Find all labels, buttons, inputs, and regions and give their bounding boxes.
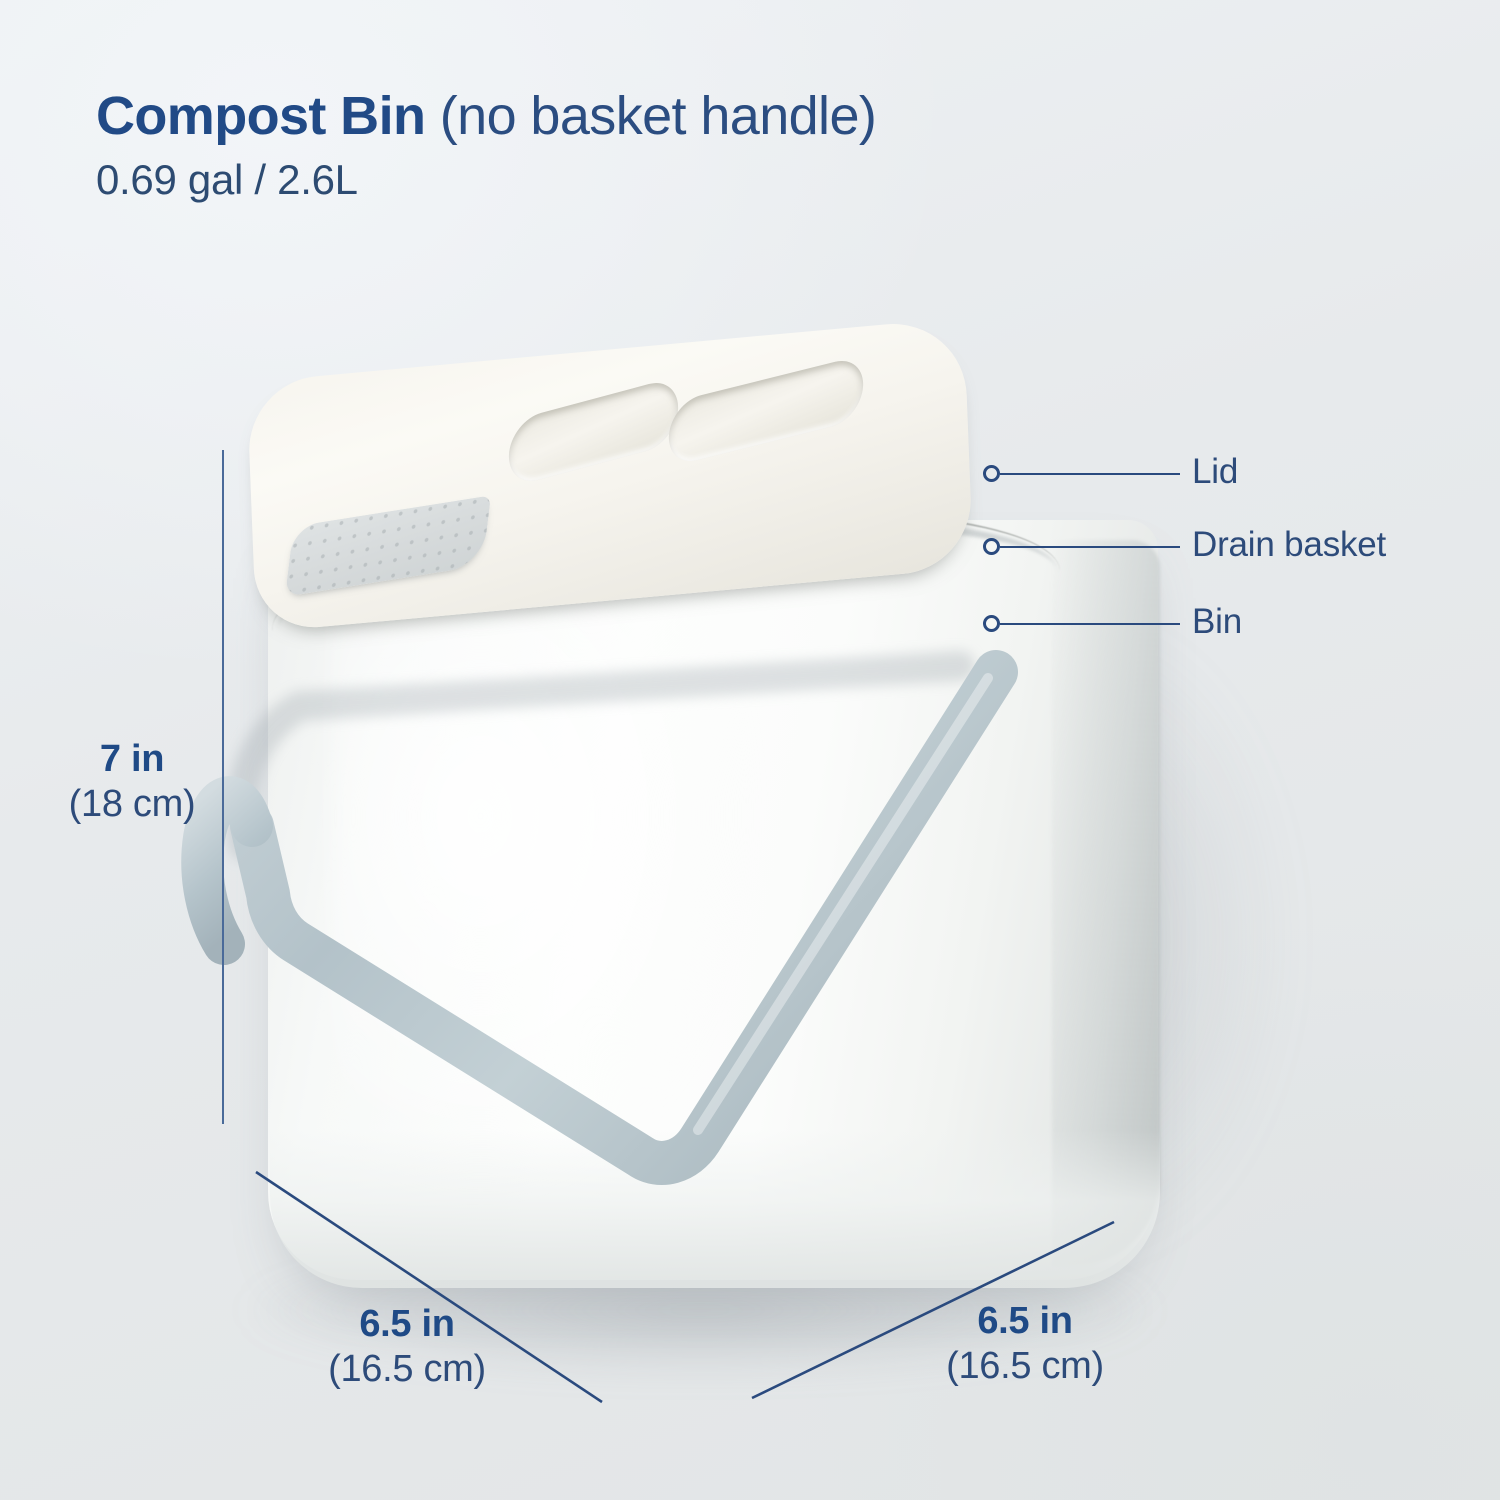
dimension-width-right-metric: (16.5 cm)	[900, 1345, 1150, 1388]
dimension-width-left-imperial: 6.5 in	[282, 1303, 532, 1346]
dimension-label-width-left: 6.5 in (16.5 cm)	[282, 1303, 532, 1391]
dimension-height-metric: (18 cm)	[42, 783, 222, 826]
dimension-label-height: 7 in (18 cm)	[42, 738, 222, 826]
dimension-height-imperial: 7 in	[42, 738, 222, 781]
dimension-width-right-imperial: 6.5 in	[900, 1300, 1150, 1343]
infographic-canvas: Compost Bin (no basket handle) 0.69 gal …	[0, 0, 1500, 1500]
dimension-lines-depth	[0, 0, 1500, 1500]
dimension-label-width-right: 6.5 in (16.5 cm)	[900, 1300, 1150, 1388]
dimension-width-left-metric: (16.5 cm)	[282, 1348, 532, 1391]
